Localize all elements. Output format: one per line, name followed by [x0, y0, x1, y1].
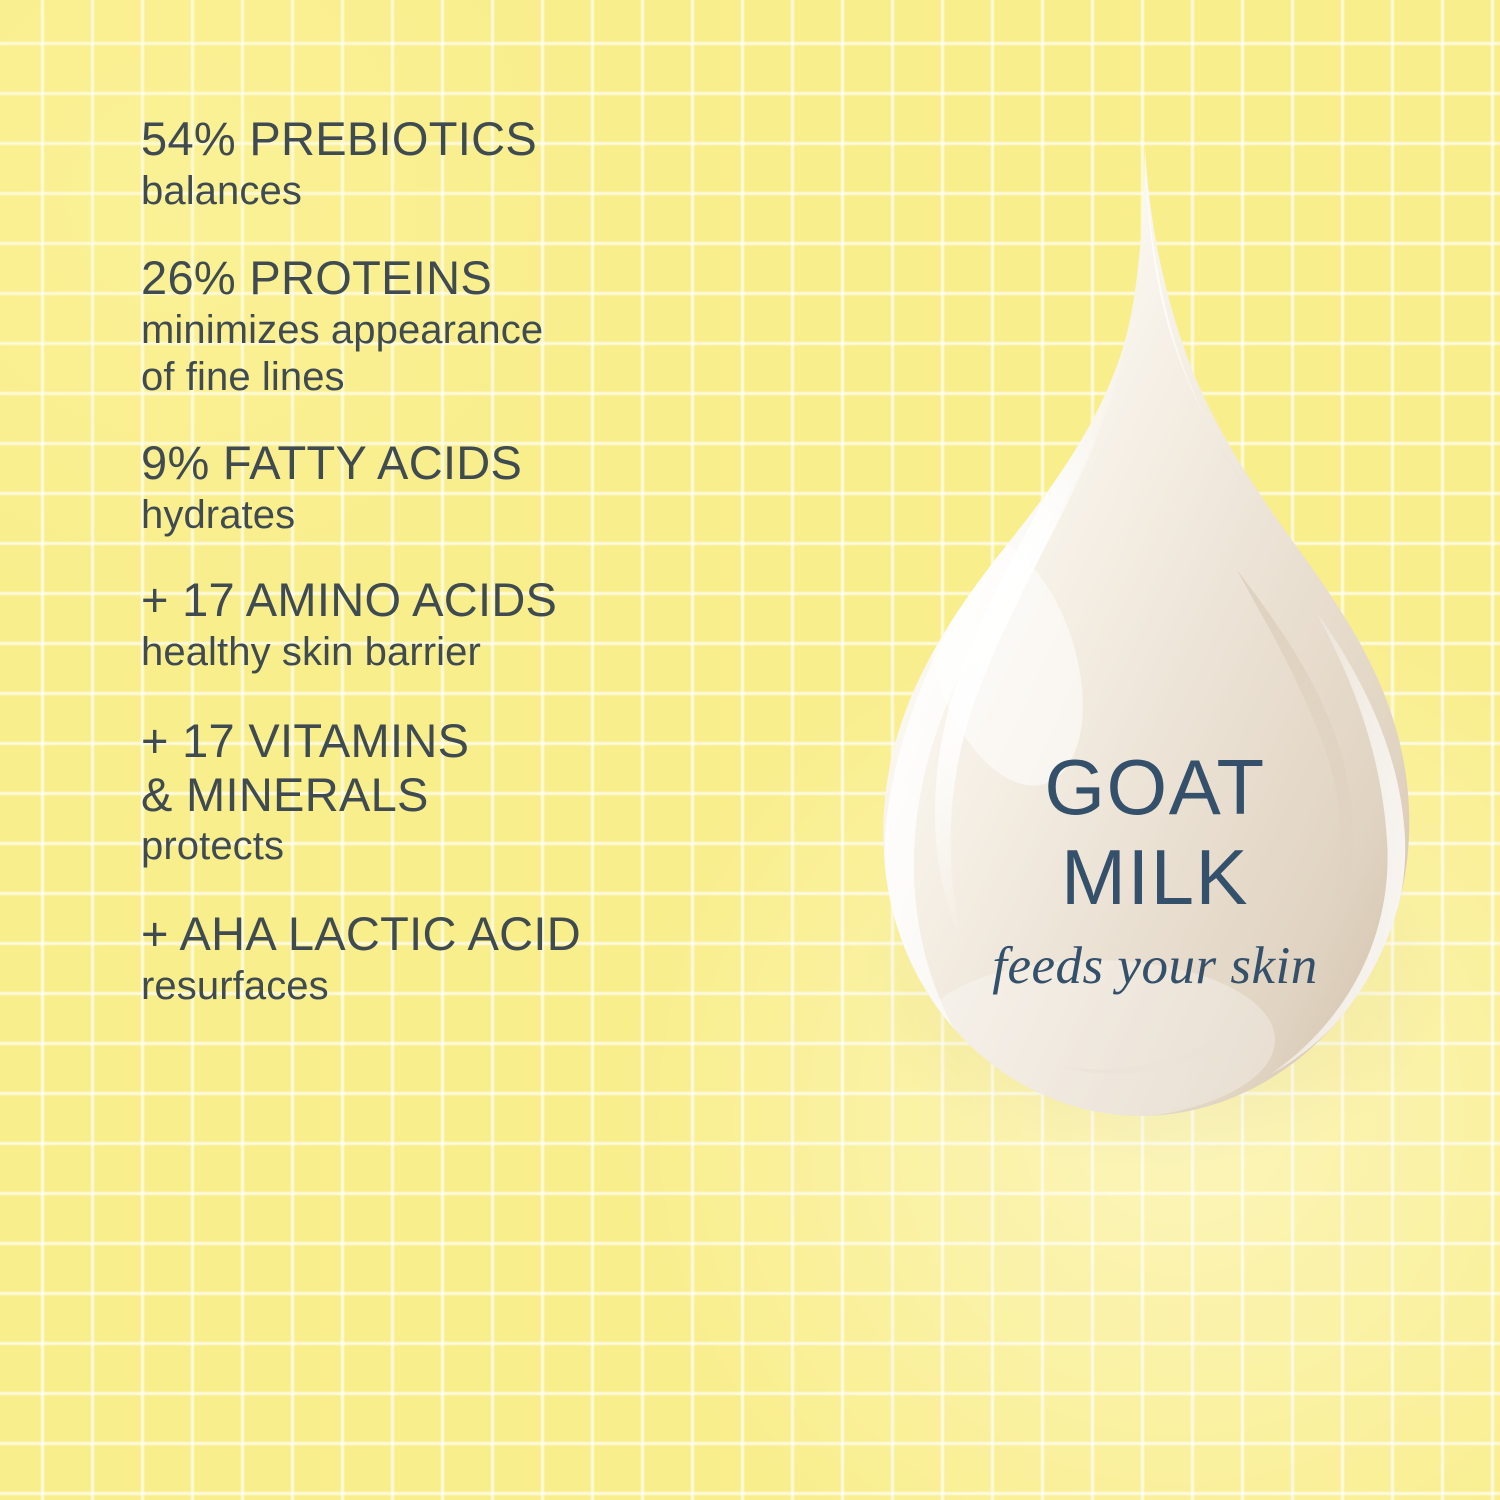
ingredient-benefit: resurfaces	[141, 963, 841, 1011]
ingredient-headline: 26% PROTEINS	[141, 251, 841, 305]
ingredient-headline: + 17 VITAMINS & MINERALS	[141, 714, 841, 821]
ingredient-item-fatty-acids: 9% FATTY ACIDS hydrates	[141, 436, 841, 539]
infographic-canvas: 54% PREBIOTICS balances 26% PROTEINS min…	[0, 0, 1500, 1500]
ingredient-list: 54% PREBIOTICS balances 26% PROTEINS min…	[141, 112, 841, 1010]
ingredient-benefit: healthy skin barrier	[141, 629, 841, 677]
ingredient-item-prebiotics: 54% PREBIOTICS balances	[141, 112, 841, 215]
brand-name-milk: MILK	[845, 838, 1465, 916]
brand-tagline: feeds your skin	[845, 940, 1465, 993]
ingredient-item-vitamins-minerals: + 17 VITAMINS & MINERALS protects	[141, 714, 841, 871]
ingredient-headline: + AHA LACTIC ACID	[141, 907, 841, 961]
ingredient-item-amino-acids: + 17 AMINO ACIDS healthy skin barrier	[141, 573, 841, 676]
ingredient-benefit: protects	[141, 823, 841, 871]
ingredient-headline: 9% FATTY ACIDS	[141, 436, 841, 490]
ingredient-headline: 54% PREBIOTICS	[141, 112, 841, 166]
milk-droplet-icon	[845, 140, 1465, 1210]
ingredient-item-aha-lactic-acid: + AHA LACTIC ACID resurfaces	[141, 907, 841, 1010]
ingredient-benefit: minimizes appearance of fine lines	[141, 307, 841, 402]
ingredient-benefit: hydrates	[141, 492, 841, 540]
brand-name-goat: GOAT	[845, 748, 1465, 826]
milk-droplet-graphic: GOAT MILK feeds your skin	[845, 140, 1465, 1210]
ingredient-item-proteins: 26% PROTEINS minimizes appearance of fin…	[141, 251, 841, 402]
ingredient-benefit: balances	[141, 168, 841, 216]
ingredient-headline: + 17 AMINO ACIDS	[141, 573, 841, 627]
